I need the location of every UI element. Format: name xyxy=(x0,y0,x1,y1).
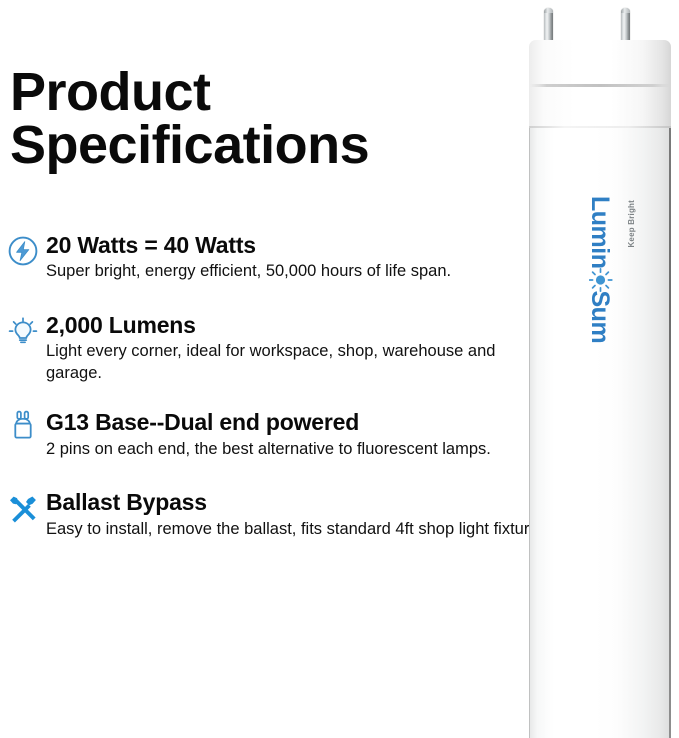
lightning-bolt-circle-icon xyxy=(7,235,39,267)
light-bulb-icon xyxy=(7,315,39,347)
g13-pin-left xyxy=(544,8,553,44)
feature-description: 2 pins on each end, the best alternative… xyxy=(46,439,545,461)
brand-name-part-1: Lumin xyxy=(588,196,613,269)
page-title: Product Specifications xyxy=(10,66,530,172)
brand-tagline: Keep Bright xyxy=(627,200,636,248)
feature-description: Light every corner, ideal for workspace,… xyxy=(46,341,545,385)
feature-title: G13 Base--Dual end powered xyxy=(46,409,545,435)
brand-wordmark: Lumin Sum xyxy=(588,196,617,343)
tube-edge-left xyxy=(529,128,530,738)
feature-list: 20 Watts = 40 Watts Super bright, energy… xyxy=(0,232,545,566)
feature-item-wattage: 20 Watts = 40 Watts Super bright, energy… xyxy=(0,232,545,288)
feature-title: Ballast Bypass xyxy=(46,489,545,515)
g13-pin-right xyxy=(621,8,630,44)
hammer-wrench-tools-icon xyxy=(7,493,39,525)
brand-name-part-2: Sum xyxy=(588,291,613,344)
specifications-panel: Product Specifications 20 Watts = 40 Wat… xyxy=(0,0,545,738)
feature-item-lumens: 2,000 Lumens Light every corner, ideal f… xyxy=(0,312,545,385)
tube-edge-right xyxy=(669,128,671,738)
feature-description: Easy to install, remove the ballast, fit… xyxy=(46,519,545,541)
sun-icon xyxy=(590,268,614,292)
feature-item-base: G13 Base--Dual end powered 2 pins on eac… xyxy=(0,409,545,465)
brand-logo: Keep Bright Lumin xyxy=(579,196,625,346)
led-tube-product-image: Keep Bright Lumin xyxy=(519,0,679,738)
feature-title: 20 Watts = 40 Watts xyxy=(46,232,545,258)
tube-end-cap-seam xyxy=(530,84,670,87)
feature-description: Super bright, energy efficient, 50,000 h… xyxy=(46,261,545,283)
page-title-line-2: Specifications xyxy=(10,119,530,172)
page-title-line-1: Product xyxy=(10,66,530,119)
lamp-base-pins-icon xyxy=(7,409,39,441)
feature-title: 2,000 Lumens xyxy=(46,312,545,338)
feature-item-ballast: Ballast Bypass Easy to install, remove t… xyxy=(0,489,545,545)
